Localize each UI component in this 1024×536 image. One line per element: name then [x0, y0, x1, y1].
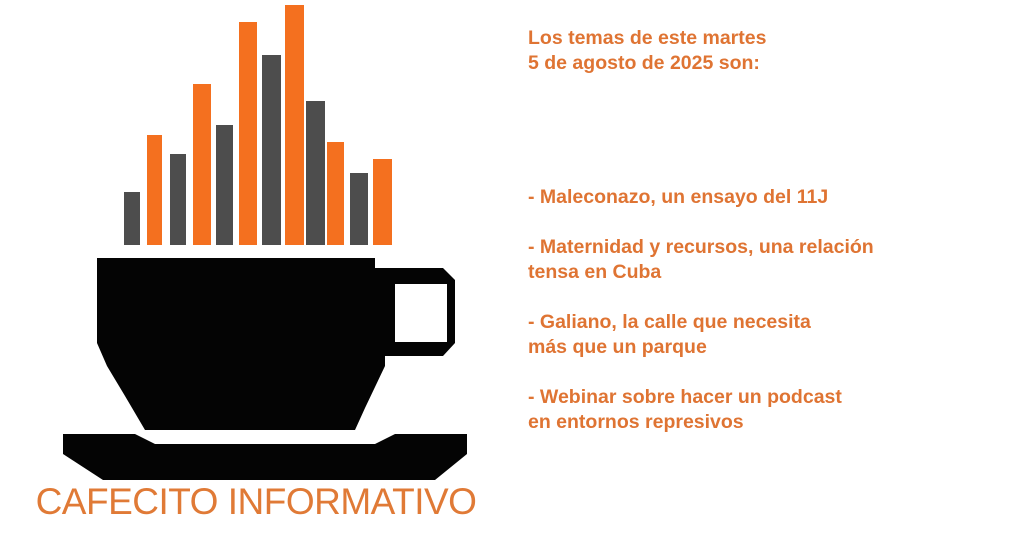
bar-chart-bar: [350, 173, 368, 245]
bar-chart-bar: [262, 55, 281, 245]
logo-graphic: CAFECITO INFORMATIVO: [0, 0, 512, 536]
cafecito-informativo-graphic: CAFECITO INFORMATIVO Los temas de este m…: [0, 0, 1024, 536]
bar-chart-bar: [124, 192, 140, 245]
text-column: Los temas de este martes 5 de agosto de …: [528, 0, 998, 536]
bar-chart-bar: [285, 5, 304, 245]
bar-chart-bar: [170, 154, 186, 245]
coffee-cup-icon: [55, 248, 485, 486]
topic-item: - Galiano, la calle que necesita más que…: [528, 310, 968, 360]
topics-list: - Maleconazo, un ensayo del 11J - Matern…: [528, 185, 968, 435]
bar-chart-bar: [147, 135, 162, 245]
bar-chart-bar: [239, 22, 257, 245]
bar-chart-bar: [193, 84, 211, 245]
brand-title: CAFECITO INFORMATIVO: [0, 481, 512, 523]
intro-heading: Los temas de este martes 5 de agosto de …: [528, 26, 766, 76]
bar-chart-bar: [373, 159, 392, 245]
bar-chart-bar: [327, 142, 344, 245]
bar-chart-bar: [306, 101, 325, 245]
topic-item: - Webinar sobre hacer un podcast en ento…: [528, 385, 968, 435]
bar-chart-steam: [0, 0, 512, 245]
bar-chart-bar: [216, 125, 233, 245]
topic-item: - Maternidad y recursos, una relación te…: [528, 235, 968, 285]
topic-item: - Maleconazo, un ensayo del 11J: [528, 185, 968, 210]
